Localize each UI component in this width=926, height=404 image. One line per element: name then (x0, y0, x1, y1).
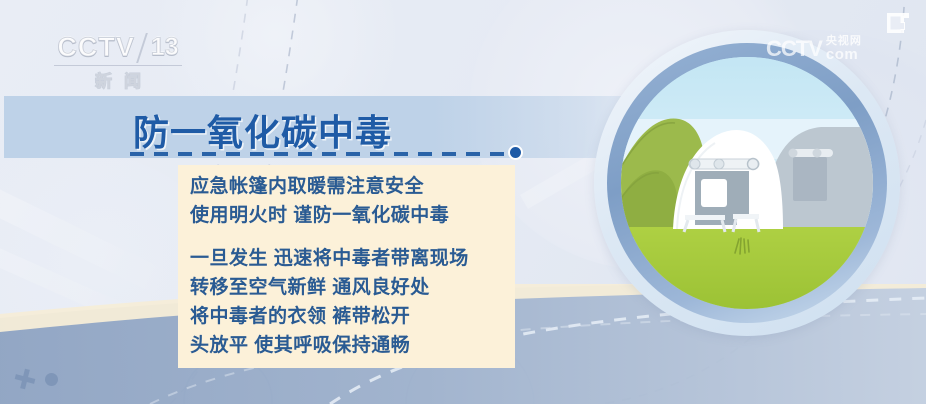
overlapping-squares-icon (886, 12, 910, 34)
panel-line: 头放平 使其呼吸保持通畅 (190, 331, 503, 360)
dot-mark-icon (45, 373, 58, 386)
panel-line: 将中毒者的衣领 裤带松开 (190, 302, 503, 331)
medallion-image (621, 57, 873, 309)
slash-divider-icon (136, 33, 148, 63)
page-title: 防一氧化碳中毒 (133, 104, 392, 156)
panel-line: 转移至空气新鲜 通风良好处 (190, 273, 503, 302)
light-streak-1 (0, 170, 176, 299)
photo-medallion (594, 30, 900, 336)
tent-illustration-icon (621, 57, 873, 309)
panel-line: 一旦发生 迅速将中毒者带离现场 (190, 244, 503, 273)
panel-line: 应急帐篷内取暖需注意安全 (190, 172, 503, 201)
info-panel-firstaid: 一旦发生 迅速将中毒者带离现场 转移至空气新鲜 通风良好处 将中毒者的衣领 裤带… (178, 237, 515, 368)
channel-subtitle: 新闻 (48, 67, 188, 92)
bullet-dot-icon (508, 145, 523, 160)
watermark-chinese: 央视网 (826, 36, 862, 47)
plus-mark-icon (14, 368, 36, 390)
panel-line: 使用明火时 谨防一氧化碳中毒 (190, 201, 503, 230)
info-panel-warning: 应急帐篷内取暖需注意安全 使用明火时 谨防一氧化碳中毒 (178, 165, 515, 238)
channel-logo-rule (54, 65, 182, 66)
dashed-underline-icon (130, 152, 510, 156)
channel-number: 13 (151, 33, 179, 62)
channel-logo: CCTV 13 新闻 (48, 32, 188, 92)
broadcast-graphic: CCTV 13 新闻 防一氧化碳中毒 应急帐篷内取暖需注意安全 使用明火时 谨防… (0, 0, 926, 404)
channel-brand: CCTV (57, 32, 135, 63)
